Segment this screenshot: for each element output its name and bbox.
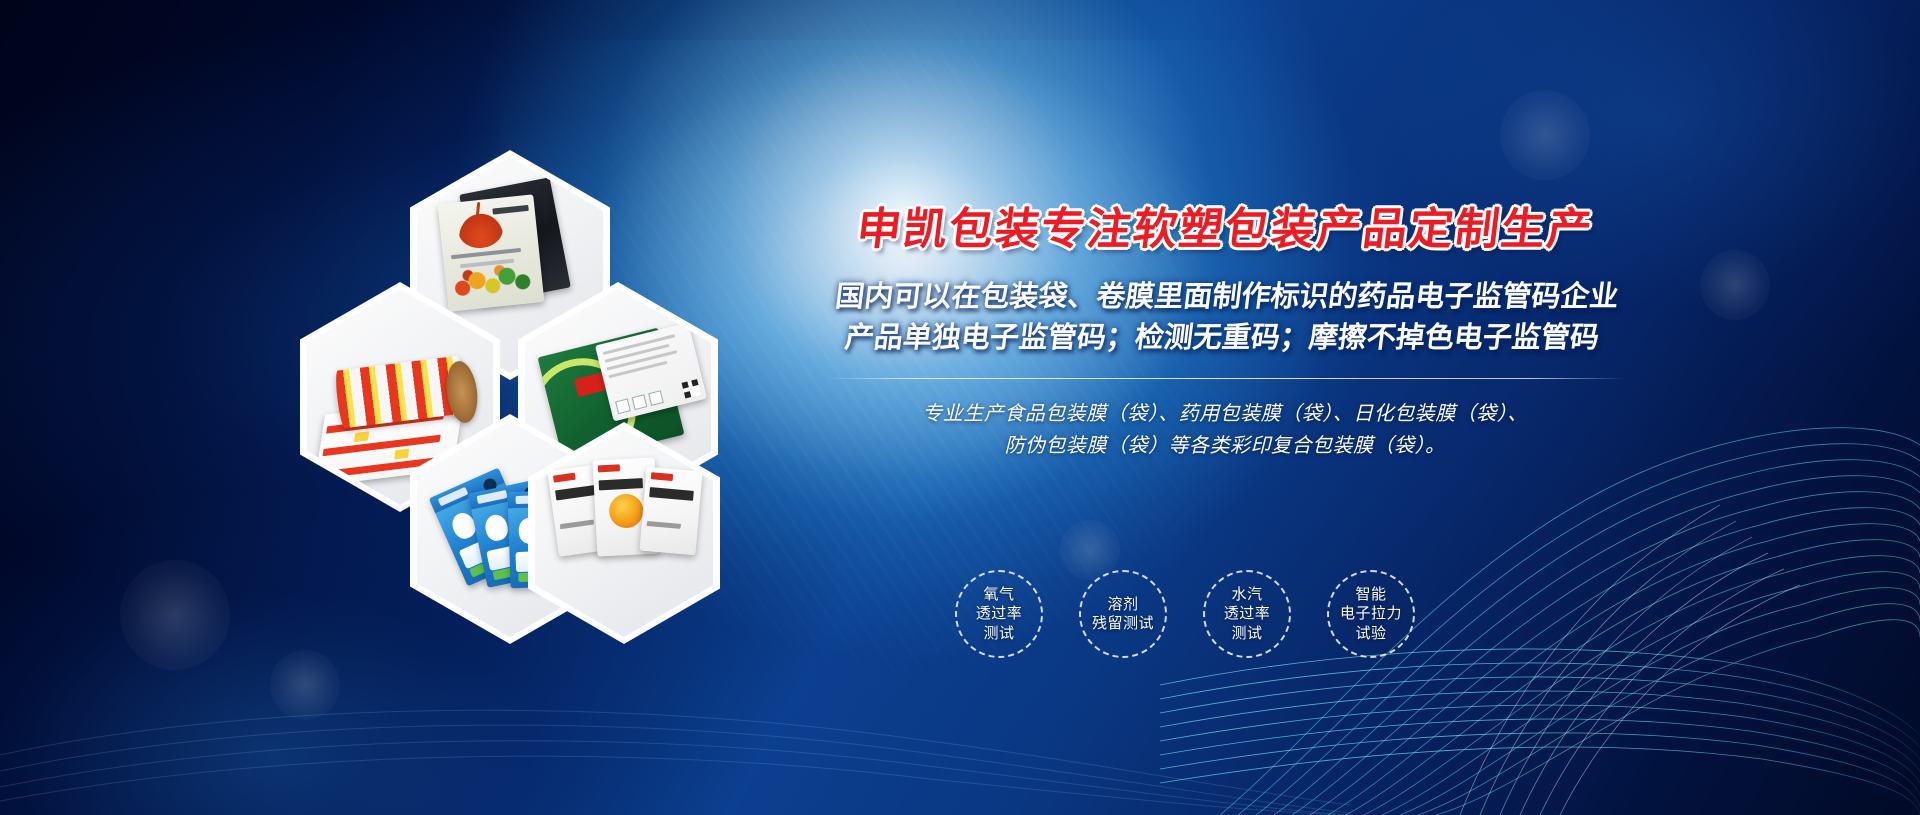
badge-water-vapor-permeability-test[interactable]: 水汽 透过率 测试 [1203,570,1291,658]
badge-line: 测试 [1231,624,1262,644]
content-divider [825,378,1625,379]
banner-headline: 申凯包装专注软塑包装产品定制生产 [848,205,1602,256]
badge-line: 电子拉力 [1340,604,1402,624]
sachet-brand-bar [598,464,620,472]
badge-line: 智能 [1355,585,1386,605]
banner-subtitle: 国内可以在包装袋、卷膜里面制作标识的药品电子监管码企业 产品单独电子监管码；检测… [828,276,1621,358]
sachet-brand-bar [651,472,674,481]
badge-line: 水汽 [1231,585,1262,605]
product-image-mask-sachet-light [438,194,545,311]
print-stripe [323,435,441,457]
bokeh-dot [270,650,340,720]
tracking-code [632,394,648,410]
sachet-brand-bar [553,473,576,483]
leaflet-text-line [609,361,668,378]
bokeh-dot [120,560,230,670]
badge-line: 测试 [983,624,1014,644]
banner-subtitle-line-1: 国内可以在包装袋、卷膜里面制作标识的药品电子监管码企业 [833,276,1621,317]
banner-body-line-2: 防伪包装膜（袋）等各类彩印复合包装膜（袋）。 [660,429,1790,461]
product-image-medicine-sachet [639,467,702,556]
brand-mark [492,205,528,215]
bokeh-dot [1500,90,1590,180]
label-text-line [451,248,521,259]
product-hexagon-cluster [300,150,720,580]
badge-smart-electronic-tensile-test[interactable]: 智能 电子拉力 试验 [1327,570,1415,658]
pack-character [483,513,510,543]
badge-line: 氧气 [983,585,1014,605]
sachet-plaster-graphic [608,493,644,529]
tracking-code [615,398,631,414]
print-chip [394,449,409,460]
banner-content: 申凯包装专注软塑包装产品定制生产 国内可以在包装袋、卷膜里面制作标识的药品电子监… [660,205,1790,462]
sachet-sub-bar [560,519,594,529]
pepper-graphic [457,212,504,250]
badge-line: 透过率 [976,604,1023,624]
test-badge-group: 氧气 透过率 测试 溶剂 残留测试 水汽 透过率 测试 智能 电子拉力 试验 [955,570,1415,658]
badge-line: 试验 [1355,624,1386,644]
tracking-code-group [615,390,664,414]
badge-oxygen-permeability-test[interactable]: 氧气 透过率 测试 [955,570,1043,658]
print-chip [354,431,369,442]
badge-line: 透过率 [1224,604,1271,624]
badge-line: 溶剂 [1107,595,1138,615]
badge-solvent-residue-test[interactable]: 溶剂 残留测试 [1079,570,1167,658]
banner-body-text: 专业生产食品包装膜（袋）、药用包装膜（袋）、日化包装膜（袋）、 防伪包装膜（袋）… [660,397,1790,462]
sachet-title-bar [599,478,643,490]
sachet-sub-bar [646,521,681,529]
banner-body-line-1: 专业生产食品包装膜（袋）、药用包装膜（袋）、日化包装膜（袋）、 [660,397,1790,429]
banner-subtitle-line-2: 产品单独电子监管码；检测无重码；摩擦不掉色电子监管码 [828,317,1616,358]
promo-banner: 申凯包装专注软塑包装产品定制生产 国内可以在包装袋、卷膜里面制作标识的药品电子监… [0,0,1920,815]
badge-line: 残留测试 [1092,614,1154,634]
sachet-title-bar [649,487,694,501]
vegetable-graphic [450,257,538,306]
